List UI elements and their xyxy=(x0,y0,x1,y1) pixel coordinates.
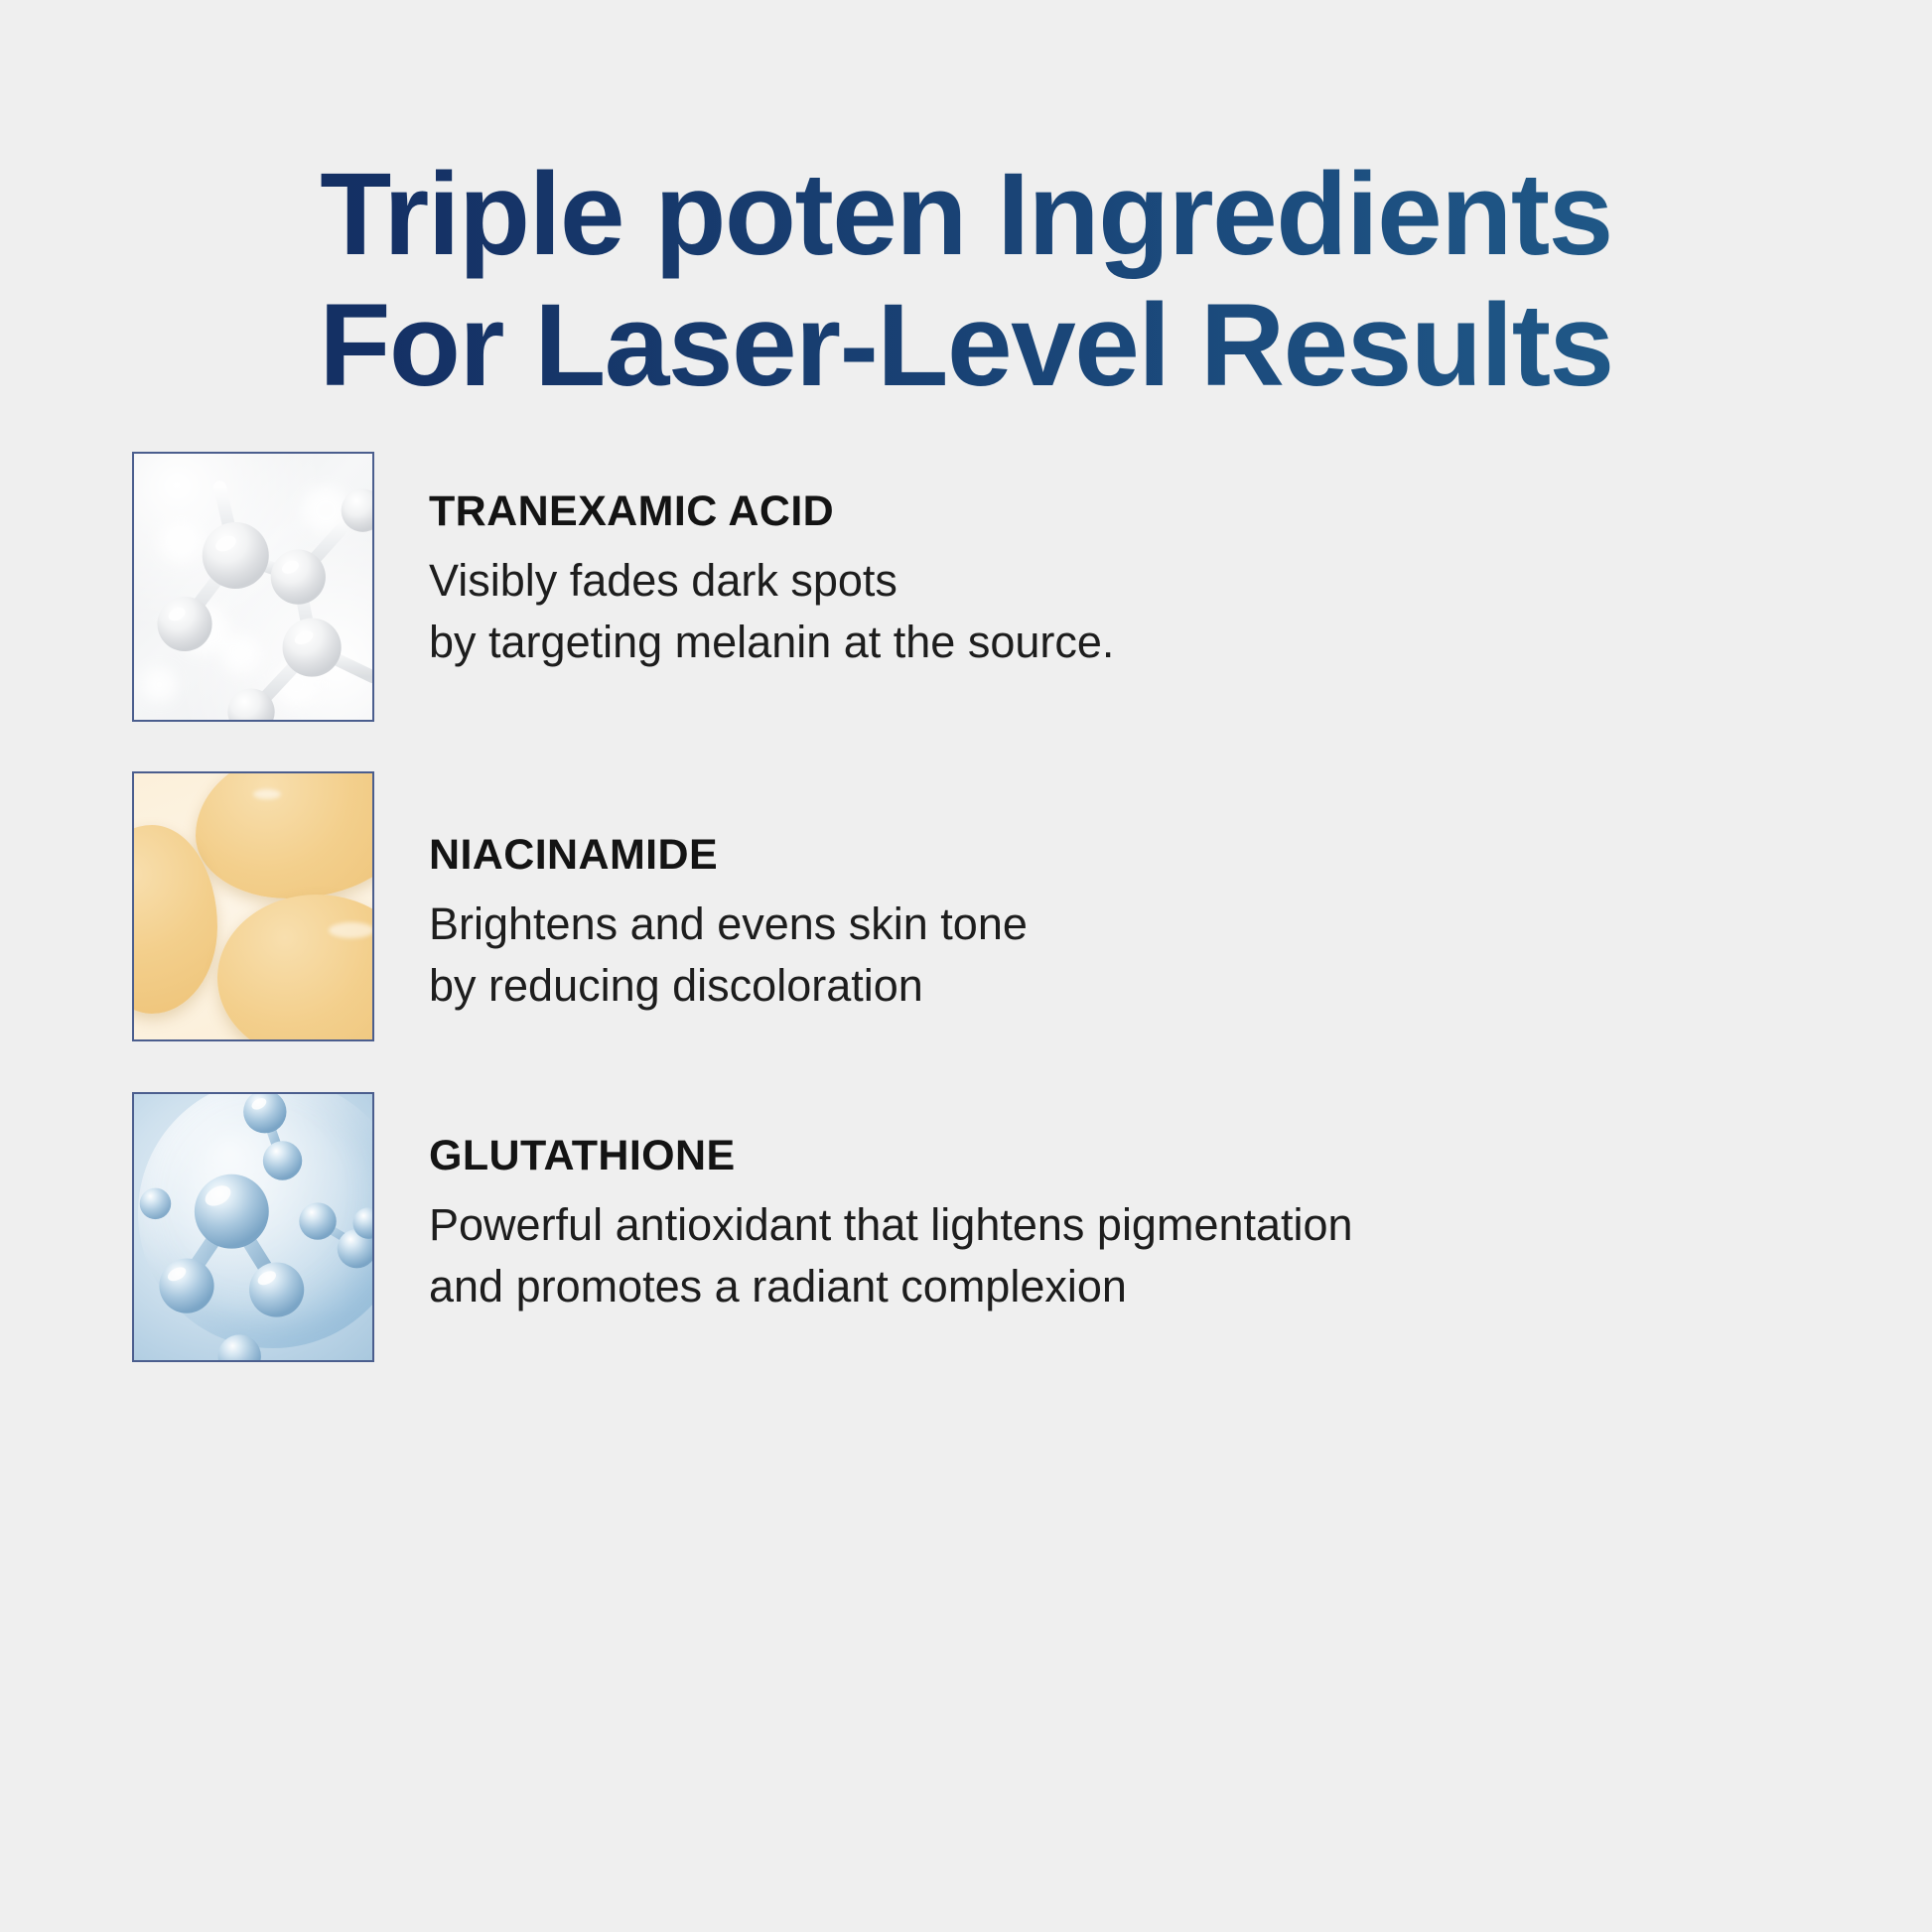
glutathione-image xyxy=(132,1092,374,1362)
glutathione-text: GLUTATHIONE Powerful antioxidant that li… xyxy=(429,1092,1353,1317)
white-molecule-icon xyxy=(134,454,372,720)
ingredient-name: NIACINAMIDE xyxy=(429,833,1028,878)
page-title-line-2: For Laser-Level Results xyxy=(0,280,1932,411)
niacinamide-text: NIACINAMIDE Brightens and evens skin ton… xyxy=(429,771,1028,1017)
ingredient-name: TRANEXAMIC ACID xyxy=(429,489,1114,534)
ingredient-description: Powerful antioxidant that lightens pigme… xyxy=(429,1194,1353,1317)
blue-molecule-bubble-icon xyxy=(134,1094,372,1360)
ingredient-description-line-1: Brightens and evens skin tone xyxy=(429,894,1028,955)
ingredient-description-line-2: by targeting melanin at the source. xyxy=(429,612,1114,673)
ingredient-description-line-2: and promotes a radiant complexion xyxy=(429,1256,1353,1317)
page-title-line-1: Triple poten Ingredients xyxy=(0,149,1932,280)
ingredient-description: Brightens and evens skin tone by reducin… xyxy=(429,894,1028,1017)
ingredient-name: GLUTATHIONE xyxy=(429,1134,1353,1178)
ingredient-item-glutathione: GLUTATHIONE Powerful antioxidant that li… xyxy=(132,1092,1820,1362)
ingredient-description-line-1: Visibly fades dark spots xyxy=(429,550,1114,612)
page-title: Triple poten Ingredients For Laser-Level… xyxy=(0,149,1932,411)
droplet-shape xyxy=(196,771,374,898)
ingredient-description-line-1: Powerful antioxidant that lightens pigme… xyxy=(429,1194,1353,1256)
droplet-highlight xyxy=(329,922,374,938)
tranexamic-acid-text: TRANEXAMIC ACID Visibly fades dark spots… xyxy=(429,452,1114,673)
niacinamide-image xyxy=(132,771,374,1041)
ingredient-description: Visibly fades dark spots by targeting me… xyxy=(429,550,1114,673)
droplet-shape xyxy=(217,895,374,1041)
ingredient-item-tranexamic-acid: TRANEXAMIC ACID Visibly fades dark spots… xyxy=(132,452,1820,722)
serum-droplets-icon xyxy=(134,773,372,1039)
ingredient-description-line-2: by reducing discoloration xyxy=(429,955,1028,1017)
ingredient-item-niacinamide: NIACINAMIDE Brightens and evens skin ton… xyxy=(132,771,1820,1041)
tranexamic-acid-image xyxy=(132,452,374,722)
droplet-highlight xyxy=(253,789,281,799)
